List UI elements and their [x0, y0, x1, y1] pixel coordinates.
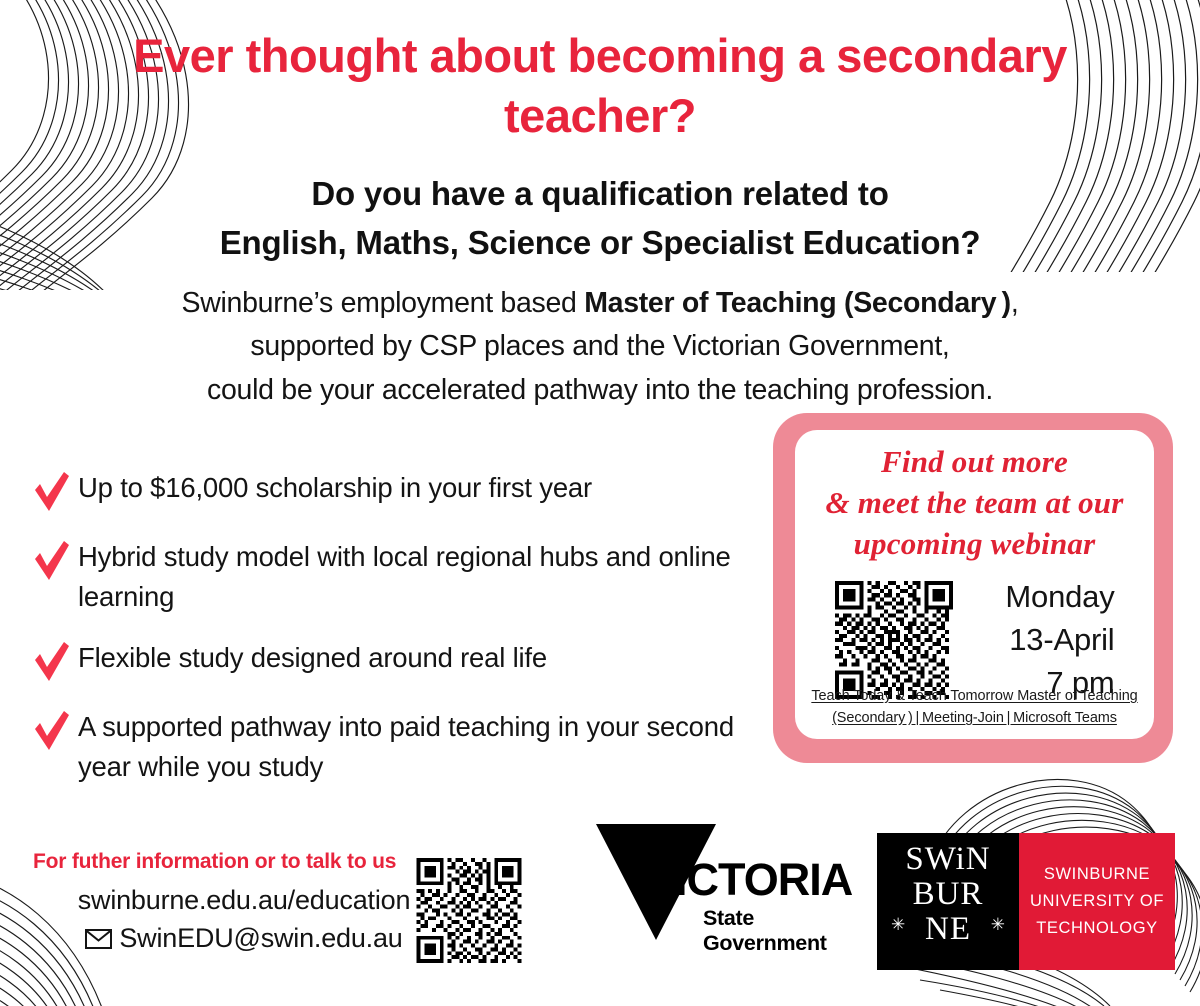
webinar-link-line-2: (Secondary ) | Meeting-Join | Microsoft …: [832, 710, 1117, 726]
webinar-title-line-2: & meet the team at our: [795, 483, 1154, 524]
envelope-icon: [85, 921, 112, 959]
intro-line-1-post: ,: [1011, 287, 1019, 319]
poster-canvas: Ever thought about becoming a secondary …: [0, 0, 1200, 1006]
intro-line-2: supported by CSP places and the Victoria…: [105, 325, 1095, 368]
webinar-title-line-3: upcoming webinar: [795, 524, 1154, 565]
subheading-line-2: English, Maths, Science or Specialist Ed…: [130, 219, 1070, 268]
swinburne-logo: SWiN BUR NE ✳ ✳ SWINBURNE UNIVERSITY OF …: [877, 833, 1175, 970]
check-icon: [30, 539, 72, 585]
program-name: Master of Teaching (Secondary ): [584, 287, 1011, 319]
webinar-meeting-link[interactable]: Teach Today & Teach Tomorrow Master of T…: [805, 685, 1144, 729]
webinar-title: Find out more & meet the team at our upc…: [795, 442, 1154, 565]
swinburne-tagline: SWINBURNE UNIVERSITY OF TECHNOLOGY: [1030, 861, 1164, 941]
swinburne-tagline-panel: SWINBURNE UNIVERSITY OF TECHNOLOGY: [1019, 833, 1175, 970]
list-item-label: Hybrid study model with local regional h…: [78, 535, 760, 617]
victoria-subtext: State Government: [703, 906, 827, 957]
intro-line-1-pre: Swinburne’s employment based: [182, 287, 585, 319]
subheading: Do you have a qualification related to E…: [130, 170, 1070, 268]
webinar-day: Monday: [965, 575, 1115, 618]
swinburne-word-2: BUR: [877, 878, 1019, 911]
victoria-state-government-logo: VICTORIA State Government: [591, 818, 843, 968]
webinar-date: 13-April: [965, 618, 1115, 661]
list-item-label: A supported pathway into paid teaching i…: [78, 705, 760, 787]
contact-block: For futher information or to talk to us …: [33, 850, 433, 960]
check-icon: [30, 640, 72, 686]
swinburne-tagline-line-3: TECHNOLOGY: [1030, 915, 1164, 942]
list-item-label: Flexible study designed around real life: [78, 636, 547, 678]
victoria-subtext-line-1: State: [703, 906, 827, 931]
intro-line-3: could be your accelerated pathway into t…: [105, 369, 1095, 412]
swinburne-tagline-line-2: UNIVERSITY OF: [1030, 888, 1164, 915]
contact-heading: For futher information or to talk to us: [33, 850, 433, 874]
list-item: Flexible study designed around real life: [30, 636, 760, 686]
intro-line-1: Swinburne’s employment based Master of T…: [105, 282, 1095, 325]
qr-code-education-site[interactable]: [414, 858, 524, 963]
intro-paragraph: Swinburne’s employment based Master of T…: [105, 282, 1095, 412]
check-icon: [30, 470, 72, 516]
contact-email: SwinEDU@swin.edu.au: [119, 923, 402, 953]
asterisk-icon: ✳: [991, 915, 1005, 935]
webinar-card-body: Find out more & meet the team at our upc…: [795, 430, 1154, 739]
contact-website[interactable]: swinburne.edu.au/education: [33, 881, 433, 919]
victoria-subtext-line-2: Government: [703, 931, 827, 956]
benefits-list: Up to $16,000 scholarship in your first …: [30, 466, 760, 807]
list-item: Hybrid study model with local regional h…: [30, 535, 760, 617]
subheading-line-1: Do you have a qualification related to: [130, 170, 1070, 219]
swinburne-word-1: SWiN: [877, 843, 1019, 876]
webinar-title-line-1: Find out more: [795, 442, 1154, 483]
qr-code-teams-meeting[interactable]: [835, 581, 953, 699]
page-title: Ever thought about becoming a secondary …: [130, 26, 1070, 146]
asterisk-icon: ✳: [891, 915, 905, 935]
list-item: Up to $16,000 scholarship in your first …: [30, 466, 760, 516]
victoria-wordmark: VICTORIA: [646, 857, 852, 902]
list-item-label: Up to $16,000 scholarship in your first …: [78, 466, 592, 508]
webinar-callout-card: Find out more & meet the team at our upc…: [773, 413, 1173, 763]
webinar-link-line-1: Teach Today & Teach Tomorrow Master of T…: [811, 688, 1137, 704]
swinburne-tagline-line-1: SWINBURNE: [1030, 861, 1164, 888]
swinburne-wordmark-panel: SWiN BUR NE ✳ ✳: [877, 833, 1019, 970]
check-icon: [30, 709, 72, 755]
list-item: A supported pathway into paid teaching i…: [30, 705, 760, 787]
contact-email-row[interactable]: SwinEDU@swin.edu.au: [33, 919, 433, 959]
